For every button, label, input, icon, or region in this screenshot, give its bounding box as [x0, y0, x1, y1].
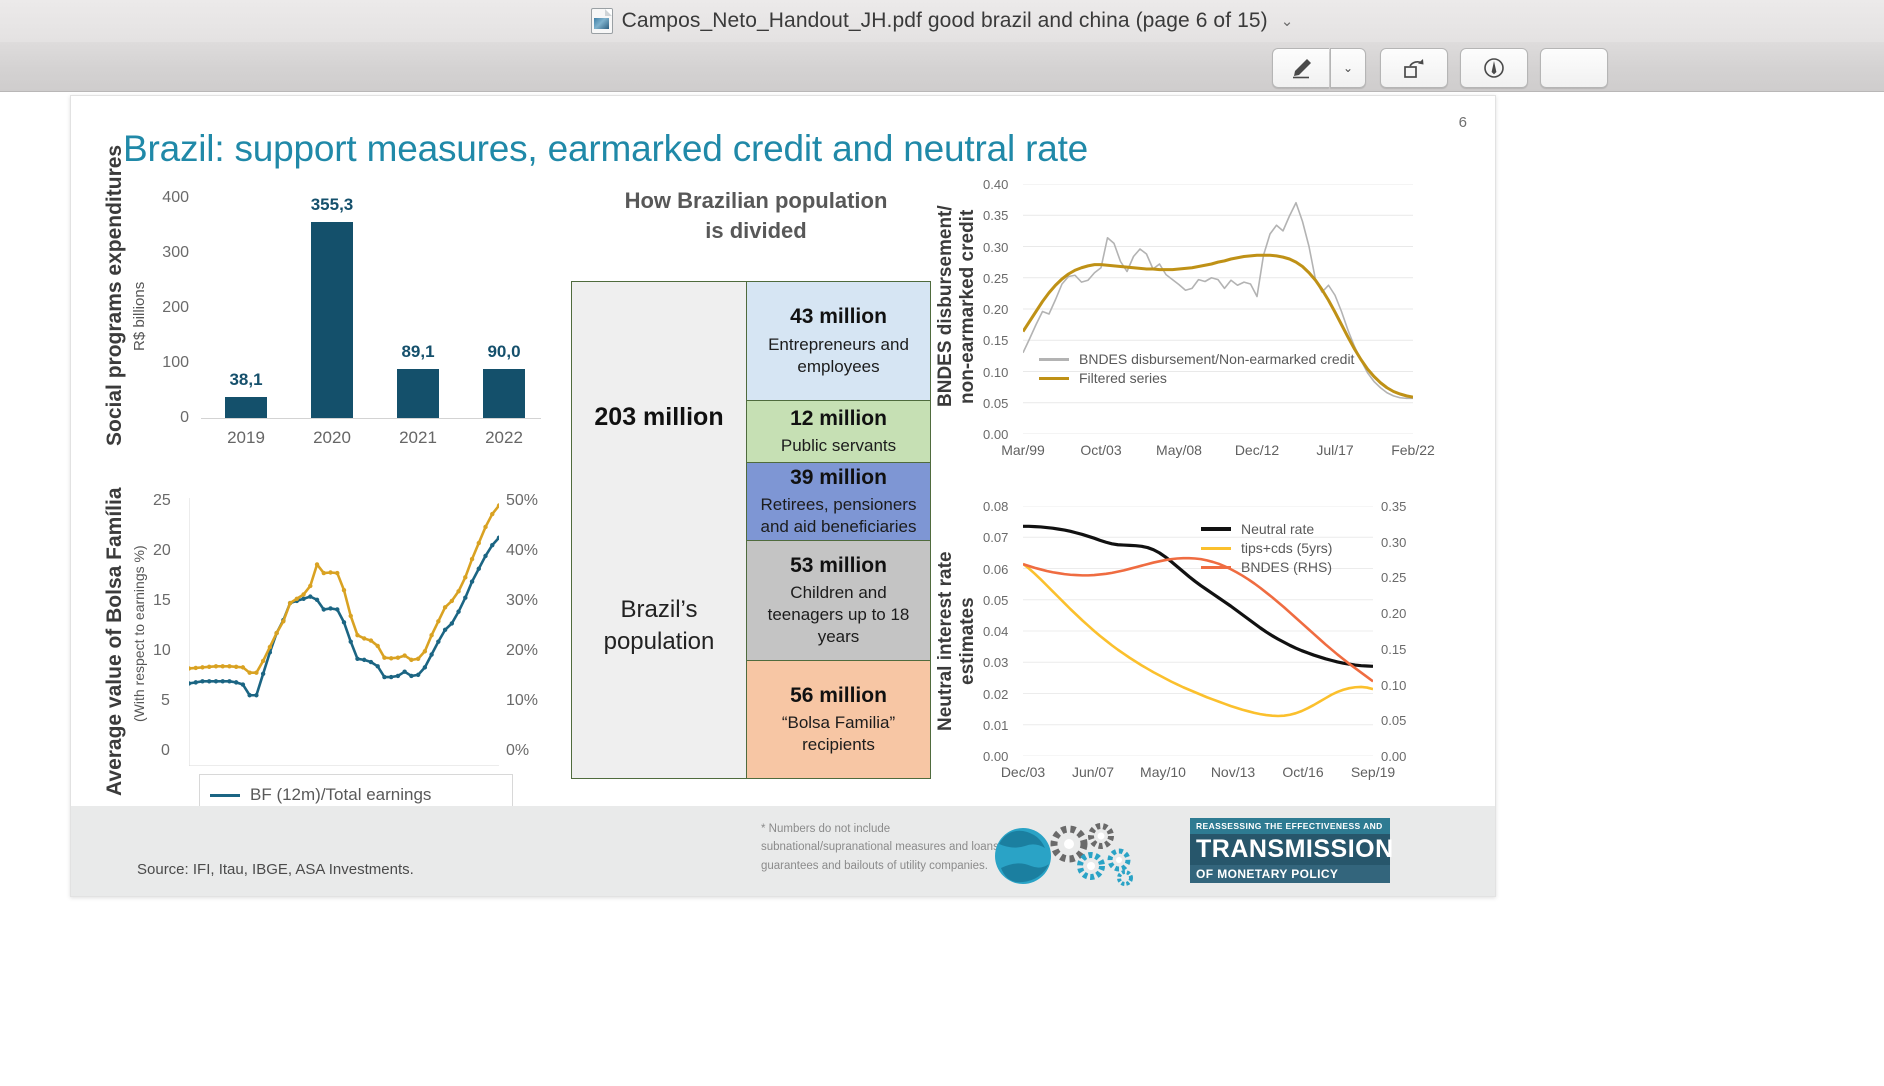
bar-2019: [225, 397, 267, 418]
overflow-button[interactable]: [1540, 48, 1608, 88]
population-segment-3: 53 millionChildren and teenagers up to 1…: [747, 541, 930, 660]
bar-category-2019: 2019: [206, 428, 286, 448]
pdf-page: 6 Brazil: support measures, earmarked cr…: [70, 95, 1496, 897]
bar-category-2021: 2021: [378, 428, 458, 448]
neutral-ytick-0.02: 0.02: [983, 687, 1008, 702]
population-caption-line2: population: [604, 626, 715, 657]
population-segment-description-4: “Bolsa Familia” recipients: [755, 712, 922, 756]
conference-badge: REASSESSING THE EFFECTIVENESS AND TRANSM…: [1190, 818, 1390, 883]
annotate-pen-circle-icon: [1481, 56, 1507, 80]
population-caption-line1: Brazil’s: [604, 594, 715, 625]
bndes-ytick-0.40: 0.40: [983, 177, 1008, 192]
bf-chart-y-axis-subtitle: (With respect to earnings %): [131, 526, 147, 741]
bf-ytick-10: 10: [153, 642, 171, 660]
neutral-xtick-1: Jun/07: [1053, 764, 1133, 780]
globe-gears-logo: [985, 816, 1175, 888]
neutral-ytick-0.06: 0.06: [983, 562, 1008, 577]
chevron-down-icon: ⌄: [1343, 61, 1353, 75]
rotate-button[interactable]: [1380, 48, 1448, 88]
markup-dropdown-button[interactable]: ⌄: [1330, 48, 1366, 88]
legend-label-filtered-series: Filtered series: [1079, 370, 1167, 386]
bf-y2tick-0: 0%: [506, 742, 529, 760]
bndes-ytick-0.10: 0.10: [983, 365, 1008, 380]
neutral-y2tick-0.05: 0.05: [1381, 713, 1406, 728]
neutral-y2tick-0.10: 0.10: [1381, 678, 1406, 693]
main-toolbar: ⌄: [0, 42, 1884, 92]
rotate-right-icon: [1401, 56, 1427, 80]
bf-y2tick-40: 40%: [506, 542, 538, 560]
population-segment-description-1: Public servants: [781, 435, 896, 457]
population-total-value: 203 million: [594, 403, 723, 432]
neutral-ytick-0.01: 0.01: [983, 718, 1008, 733]
bndes-ytick-0.00: 0.00: [983, 427, 1008, 442]
bf-plot-area: [189, 498, 499, 766]
badge-line2: TRANSMISSION: [1190, 834, 1390, 865]
bar-value-2019: 38,1: [206, 370, 286, 390]
bar-ytick-200: 200: [149, 299, 189, 317]
bndes-plot-area: [1023, 184, 1413, 434]
legend-item-bndes-rhs: BNDES (RHS): [1201, 559, 1332, 575]
population-segment-1: 12 millionPublic servants: [747, 401, 930, 463]
annotate-tool-group: [1460, 48, 1528, 88]
bndes-ytick-0.05: 0.05: [983, 396, 1008, 411]
slide-footer: Source: IFI, Itau, IBGE, ASA Investments…: [71, 806, 1495, 896]
slide-title: Brazil: support measures, earmarked cred…: [123, 128, 1088, 170]
legend-item-filtered-series: Filtered series: [1039, 370, 1354, 386]
overflow-tool-group: [1540, 48, 1608, 88]
bar-category-2022: 2022: [464, 428, 544, 448]
rotate-tool-group: [1380, 48, 1448, 88]
bf-y2tick-30: 30%: [506, 592, 538, 610]
bndes-xtick-5: Feb/22: [1373, 442, 1453, 458]
bndes-ytick-0.25: 0.25: [983, 271, 1008, 286]
bar-chart-y-axis-title: Social programs expenditures: [103, 176, 127, 446]
legend-item-bf-total-earnings: BF (12m)/Total earnings: [210, 785, 500, 805]
page-number: 6: [1459, 114, 1467, 131]
bar-value-2022: 90,0: [464, 342, 544, 362]
population-diagram: How Brazilian population is divided 203 …: [571, 186, 941, 886]
bar-value-2021: 89,1: [378, 342, 458, 362]
bar-2021: [397, 369, 439, 418]
bndes-xtick-1: Oct/03: [1061, 442, 1141, 458]
legend-label-bndes-disbursement: BNDES disbursement/Non-earmarked credit: [1079, 351, 1354, 367]
neutral-y2tick-0.35: 0.35: [1381, 499, 1406, 514]
legend-label-bf-total-earnings: BF (12m)/Total earnings: [250, 785, 431, 805]
population-heading: How Brazilian population is divided: [571, 186, 941, 245]
legend-line-orange: [1201, 566, 1231, 569]
legend-item-tips-cds: tips+cds (5yrs): [1201, 540, 1332, 556]
population-total-caption: Brazil’s population: [604, 594, 715, 656]
neutral-y2tick-0.25: 0.25: [1381, 570, 1406, 585]
document-title-group[interactable]: Campos_Neto_Handout_JH.pdf good brazil a…: [591, 8, 1294, 34]
legend-label-tips-cds: tips+cds (5yrs): [1241, 540, 1332, 556]
bar-ytick-300: 300: [149, 244, 189, 262]
population-segment-value-2: 39 million: [790, 465, 887, 491]
neutral-y2tick-0.15: 0.15: [1381, 642, 1406, 657]
neutral-ytick-0.03: 0.03: [983, 655, 1008, 670]
badge-line1: REASSESSING THE EFFECTIVENESS AND: [1190, 818, 1390, 834]
population-segment-value-0: 43 million: [790, 304, 887, 330]
bf-y2tick-20: 20%: [506, 642, 538, 660]
legend-label-bndes-rhs: BNDES (RHS): [1241, 559, 1332, 575]
legend-item-bndes-disbursement: BNDES disbursement/Non-earmarked credit: [1039, 351, 1354, 367]
bar-2022: [483, 369, 525, 418]
bndes-ytick-0.30: 0.30: [983, 240, 1008, 255]
bf-ytick-5: 5: [161, 692, 170, 710]
window-title-bar: Campos_Neto_Handout_JH.pdf good brazil a…: [0, 0, 1884, 43]
bar-category-2020: 2020: [292, 428, 372, 448]
population-segment-0: 43 millionEntrepreneurs and employees: [747, 282, 930, 401]
bf-ytick-25: 25: [153, 492, 171, 510]
bndes-legend: BNDES disbursement/Non-earmarked credit …: [1039, 348, 1354, 389]
population-segment-description-0: Entrepreneurs and employees: [755, 334, 922, 378]
bar-ytick-100: 100: [149, 354, 189, 372]
bar-value-2020: 355,3: [292, 195, 372, 215]
population-segment-2: 39 millionRetirees, pensioners and aid b…: [747, 463, 930, 541]
bf-chart-y-axis-title: Average value of Bolsa Família: [103, 496, 127, 796]
bndes-xtick-2: May/08: [1139, 442, 1219, 458]
bf-ytick-15: 15: [153, 592, 171, 610]
bf-ytick-0: 0: [161, 742, 170, 760]
bndes-y-axis-title: BNDES disbursement/ non-earmarked credit: [935, 184, 959, 429]
neutral-ytick-0.07: 0.07: [983, 530, 1008, 545]
markup-pen-icon: [1288, 56, 1314, 80]
neutral-y2tick-0.30: 0.30: [1381, 535, 1406, 550]
legend-line-black: [1201, 527, 1231, 531]
bar-chart-y-axis-subtitle: R$ billions: [131, 246, 148, 386]
legend-line-yellow: [1201, 547, 1231, 550]
neutral-y-axis-title: Neutral interest rate estimates: [935, 524, 959, 759]
neutral-ytick-0.08: 0.08: [983, 499, 1008, 514]
bndes-ytick-0.15: 0.15: [983, 333, 1008, 348]
social-programs-bar-chart: Social programs expenditures R$ billions…: [101, 176, 581, 476]
neutral-ytick-0.00: 0.00: [983, 749, 1008, 764]
bar-2020: [311, 222, 353, 418]
chevron-down-icon[interactable]: ⌄: [1281, 12, 1294, 30]
document-title: Campos_Neto_Handout_JH.pdf good brazil a…: [622, 9, 1268, 33]
annotate-button[interactable]: [1460, 48, 1528, 88]
bndes-xtick-4: Jul/17: [1295, 442, 1375, 458]
population-total-cell: 203 million Brazil’s population: [572, 282, 747, 778]
bar-ytick-0: 0: [149, 409, 189, 427]
bndes-xtick-3: Dec/12: [1217, 442, 1297, 458]
legend-line-teal: [210, 794, 240, 797]
bndes-xtick-0: Mar/99: [983, 442, 1063, 458]
pdf-document-icon: [591, 8, 613, 34]
bar-ytick-400: 400: [149, 189, 189, 207]
population-segment-description-2: Retirees, pensioners and aid beneficiari…: [755, 494, 922, 538]
population-heading-line1: How Brazilian population: [571, 186, 941, 216]
neutral-ytick-0.04: 0.04: [983, 624, 1008, 639]
bar-chart-baseline: [201, 418, 541, 419]
population-grid: 203 million Brazil’s population 43 milli…: [571, 281, 931, 779]
neutral-legend: Neutral rate tips+cds (5yrs) BNDES (RHS): [1201, 518, 1332, 578]
population-segment-description-3: Children and teenagers up to 18 years: [755, 582, 922, 648]
legend-label-neutral-rate: Neutral rate: [1241, 521, 1314, 537]
population-segment-value-4: 56 million: [790, 683, 887, 709]
bndes-ytick-0.20: 0.20: [983, 302, 1008, 317]
population-segments: 43 millionEntrepreneurs and employees12 …: [747, 282, 930, 778]
markup-pen-button[interactable]: [1272, 48, 1329, 88]
neutral-y2tick-0.00: 0.00: [1381, 749, 1406, 764]
neutral-xtick-4: Oct/16: [1263, 764, 1343, 780]
bf-y2tick-10: 10%: [506, 692, 538, 710]
population-segment-value-3: 53 million: [790, 553, 887, 579]
population-segment-value-1: 12 million: [790, 406, 887, 432]
badge-line3: OF MONETARY POLICY: [1190, 865, 1390, 883]
bf-y2tick-50: 50%: [506, 492, 538, 510]
footnote-text: * Numbers do not include subnational/sup…: [761, 820, 1011, 875]
neutral-xtick-5: Sep/19: [1333, 764, 1413, 780]
neutral-xtick-2: May/10: [1123, 764, 1203, 780]
bndes-ytick-0.35: 0.35: [983, 208, 1008, 223]
population-segment-4: 56 million“Bolsa Familia” recipients: [747, 661, 930, 778]
neutral-xtick-3: Nov/13: [1193, 764, 1273, 780]
neutral-ytick-0.05: 0.05: [983, 593, 1008, 608]
legend-line-grey: [1039, 358, 1069, 361]
legend-item-neutral-rate: Neutral rate: [1201, 521, 1332, 537]
neutral-xtick-0: Dec/03: [983, 764, 1063, 780]
bf-ytick-20: 20: [153, 542, 171, 560]
source-text: Source: IFI, Itau, IBGE, ASA Investments…: [137, 861, 414, 878]
markup-tool-group: ⌄: [1272, 48, 1366, 88]
legend-line-dark-gold: [1039, 377, 1069, 380]
neutral-y2tick-0.20: 0.20: [1381, 606, 1406, 621]
population-heading-line2: is divided: [571, 216, 941, 246]
bndes-disbursement-chart: BNDES disbursement/ non-earmarked credit…: [931, 176, 1451, 486]
